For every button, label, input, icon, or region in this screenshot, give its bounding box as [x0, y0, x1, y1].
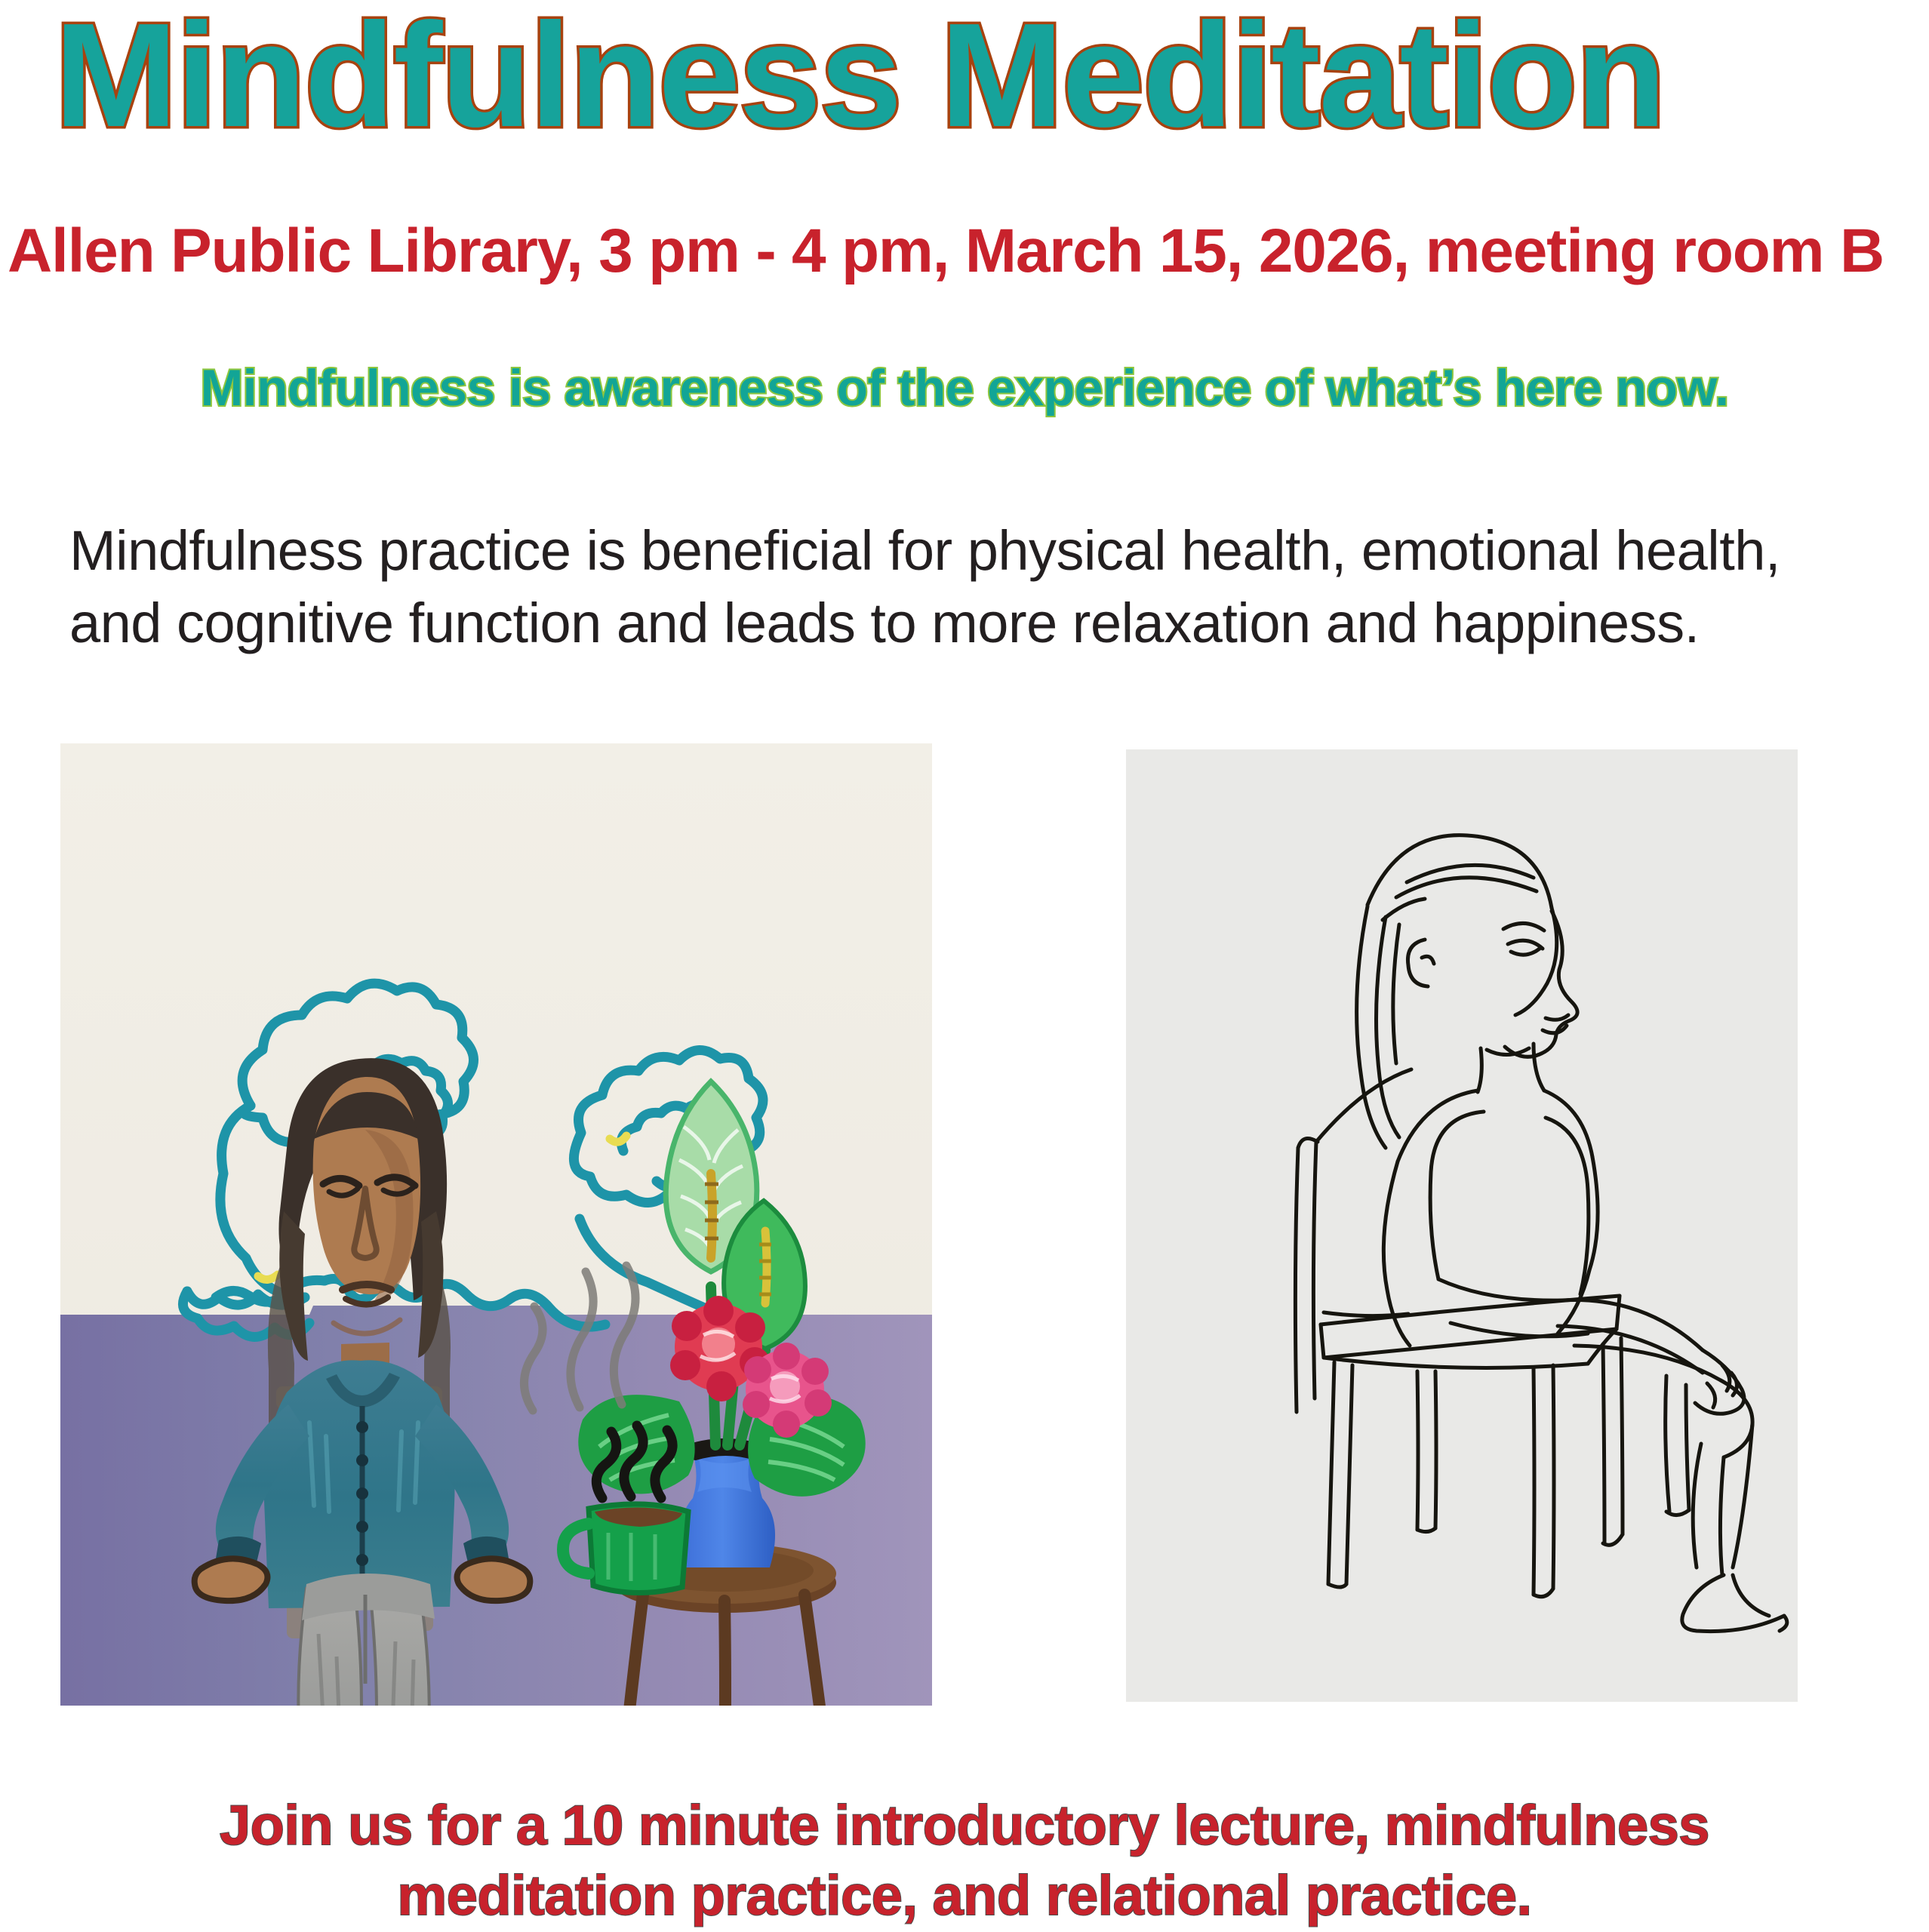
- seated-figure-drawing-image: [1126, 749, 1798, 1702]
- tagline: Mindfulness is awareness of the experien…: [0, 362, 1929, 414]
- meditation-painting-svg: [60, 743, 932, 1706]
- call-to-action: Join us for a 10 minute introductory lec…: [0, 1790, 1929, 1930]
- poster-page: Mindfulness Meditation Allen Public Libr…: [0, 0, 1929, 1932]
- artwork-row: [0, 743, 1929, 1713]
- cta-line-2: meditation practice, and relational prac…: [0, 1860, 1929, 1930]
- event-details-line: Allen Public Library, 3 pm - 4 pm, March…: [8, 220, 1929, 282]
- body-paragraph: Mindfulness practice is beneficial for p…: [69, 515, 1835, 660]
- page-title: Mindfulness Meditation: [54, 2, 1881, 149]
- meditation-painting-image: [60, 743, 932, 1706]
- seated-figure-drawing-svg: [1126, 749, 1798, 1702]
- body-line-1: Mindfulness practice is beneficial for p…: [69, 515, 1835, 587]
- cta-line-1: Join us for a 10 minute introductory lec…: [0, 1790, 1929, 1860]
- body-line-2: and cognitive function and leads to more…: [69, 587, 1835, 660]
